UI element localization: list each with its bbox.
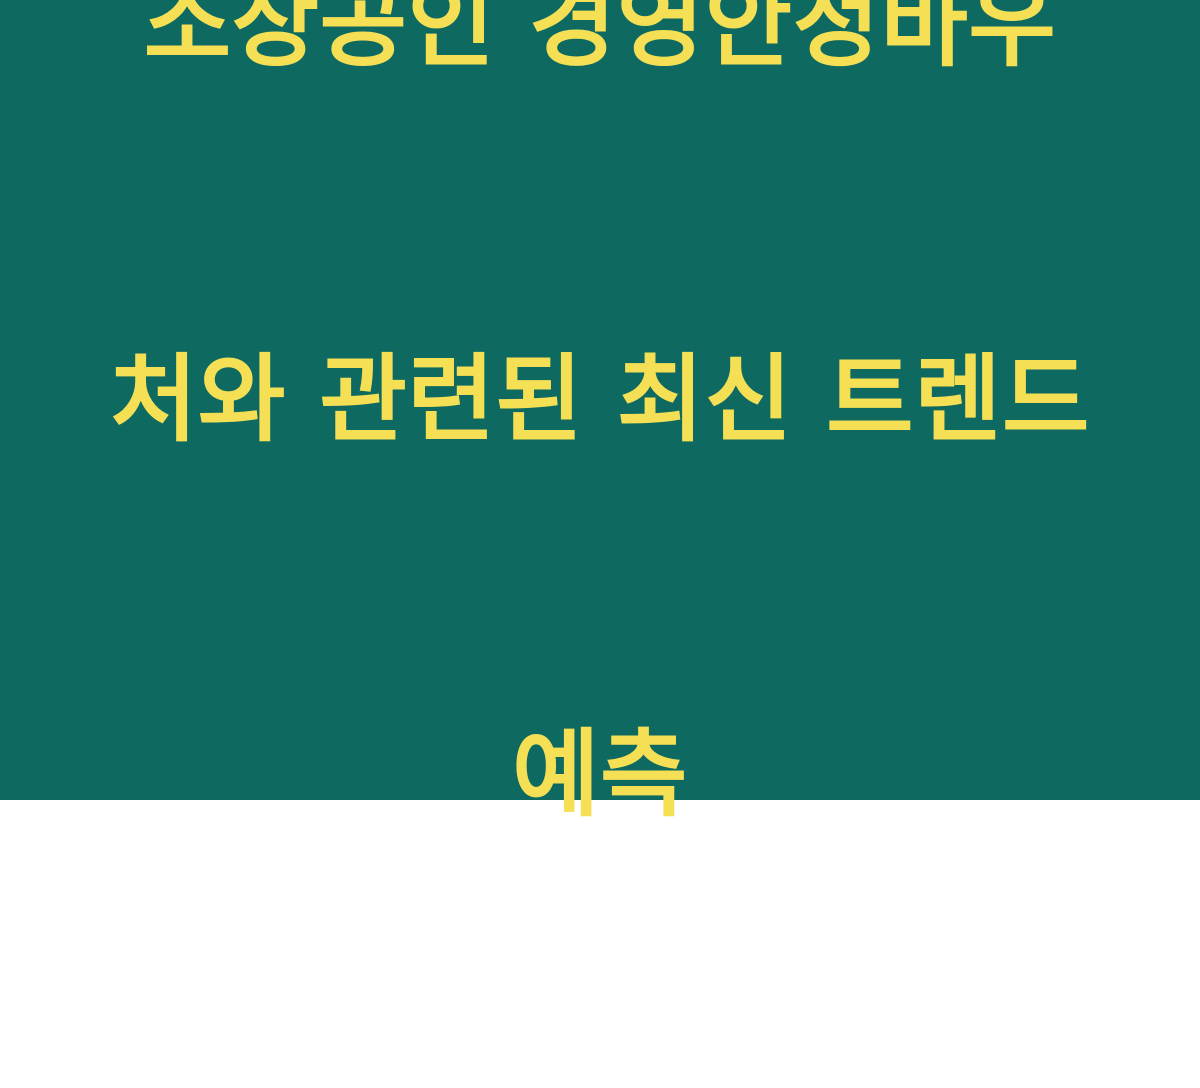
title-card: 소상공인 경영안정바우 처와 관련된 최신 트렌드 예측 — [0, 0, 1200, 800]
headline-line-2: 처와 관련된 최신 트렌드 — [35, 338, 1165, 463]
headline-line-1: 소상공인 경영안정바우 — [35, 0, 1165, 88]
headline-line-3: 예측 — [35, 713, 1165, 838]
page-title: 소상공인 경영안정바우 처와 관련된 최신 트렌드 예측 — [35, 0, 1165, 1088]
